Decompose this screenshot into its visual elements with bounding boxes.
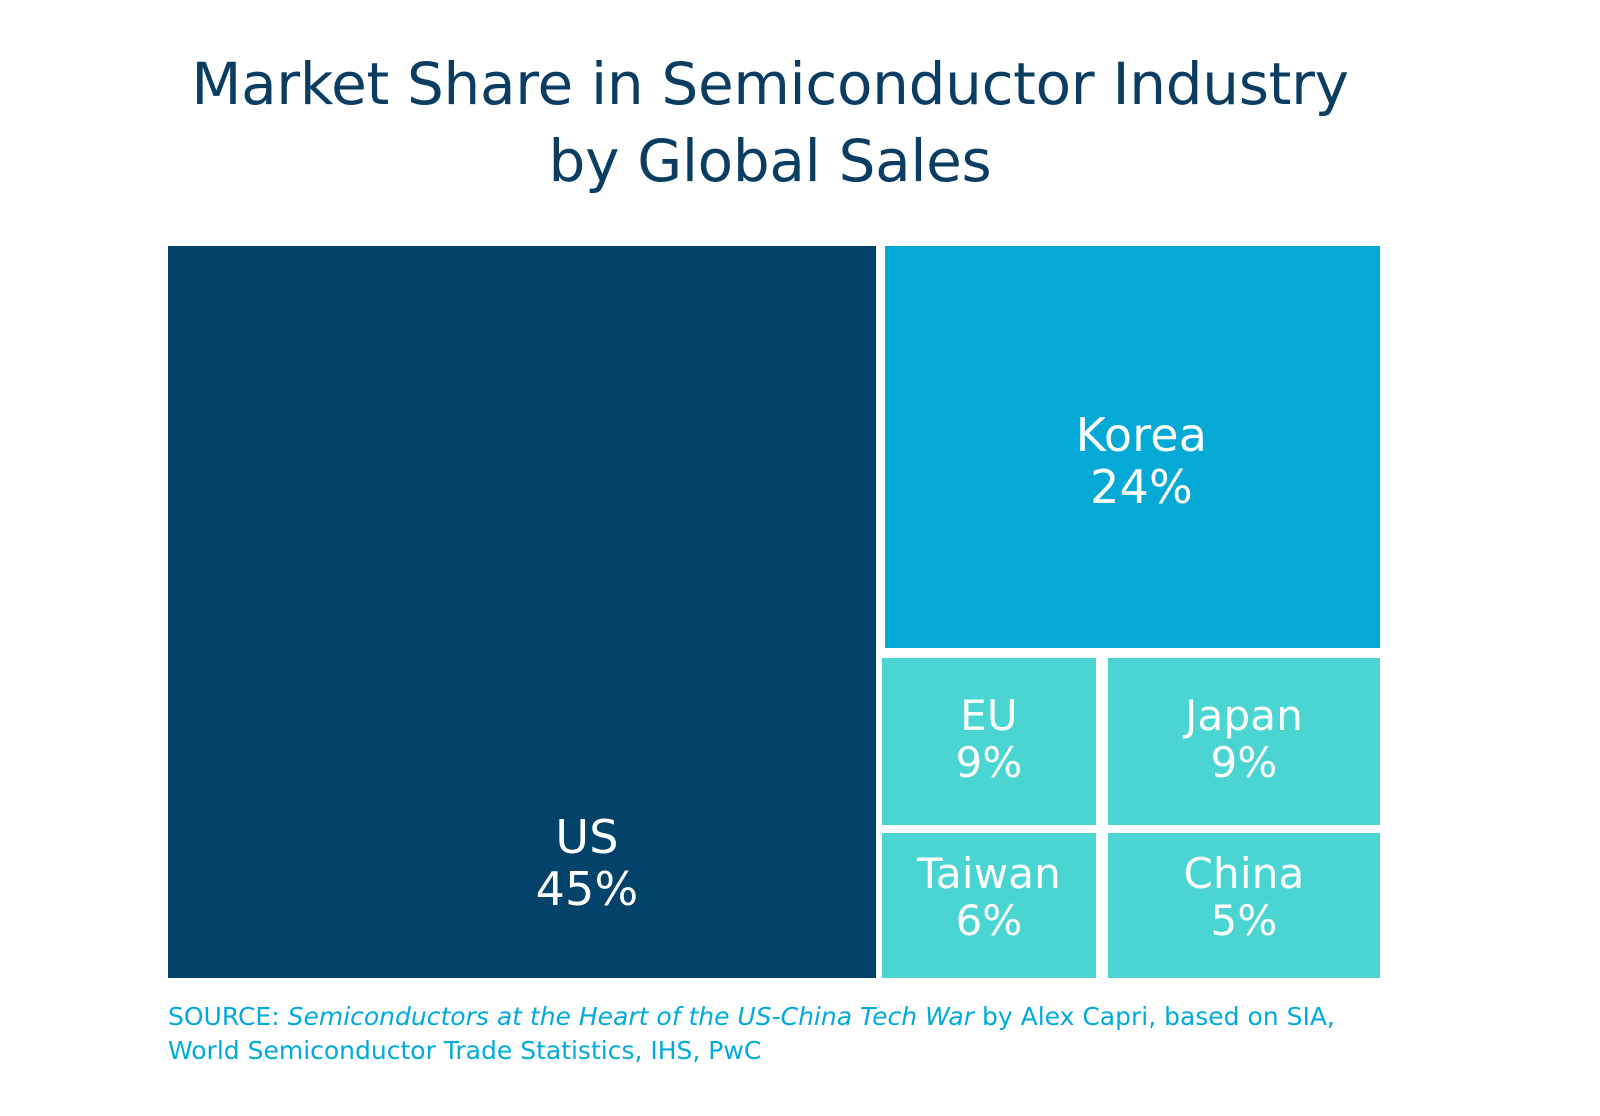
tile-eu-label: EU [960, 692, 1018, 739]
tile-korea-label: Korea [1076, 410, 1207, 462]
tile-taiwan-text: Taiwan 6% [917, 850, 1061, 944]
tile-taiwan-label: Taiwan [917, 850, 1061, 897]
source-note: SOURCE: Semiconductors at the Heart of t… [168, 1000, 1348, 1067]
treemap-tile-us[interactable]: US 45% [168, 246, 876, 978]
treemap-tile-eu[interactable]: EU 9% [882, 658, 1096, 825]
treemap-tile-japan[interactable]: Japan 9% [1108, 658, 1380, 825]
tile-china-label: China [1184, 850, 1305, 897]
source-prefix: SOURCE: [168, 1002, 288, 1031]
tile-japan-text: Japan 9% [1185, 692, 1303, 786]
tile-japan-label: Japan [1185, 692, 1303, 739]
tile-china-value: 5% [1210, 897, 1277, 944]
treemap-tile-korea[interactable]: Korea 24% [885, 246, 1380, 648]
source-publication-title: Semiconductors at the Heart of the US-Ch… [288, 1002, 974, 1031]
tile-eu-value: 9% [955, 739, 1022, 786]
chart-canvas: Market Share in Semiconductor Industry b… [0, 0, 1600, 1116]
tile-korea-value: 24% [1090, 462, 1193, 514]
treemap-tile-taiwan[interactable]: Taiwan 6% [882, 833, 1096, 978]
tile-japan-value: 9% [1210, 739, 1277, 786]
treemap-chart: US 45% Korea 24% EU 9% Japan 9% Taiw [0, 0, 1600, 1116]
tile-us-value: 45% [536, 864, 639, 916]
treemap-tile-china[interactable]: China 5% [1108, 833, 1380, 978]
tile-eu-text: EU 9% [955, 692, 1022, 786]
tile-us-label: US [555, 812, 618, 864]
tile-korea-text: Korea 24% [1076, 410, 1207, 513]
tile-taiwan-value: 6% [955, 897, 1022, 944]
tile-us-text: US 45% [536, 812, 639, 915]
tile-china-text: China 5% [1184, 850, 1305, 944]
